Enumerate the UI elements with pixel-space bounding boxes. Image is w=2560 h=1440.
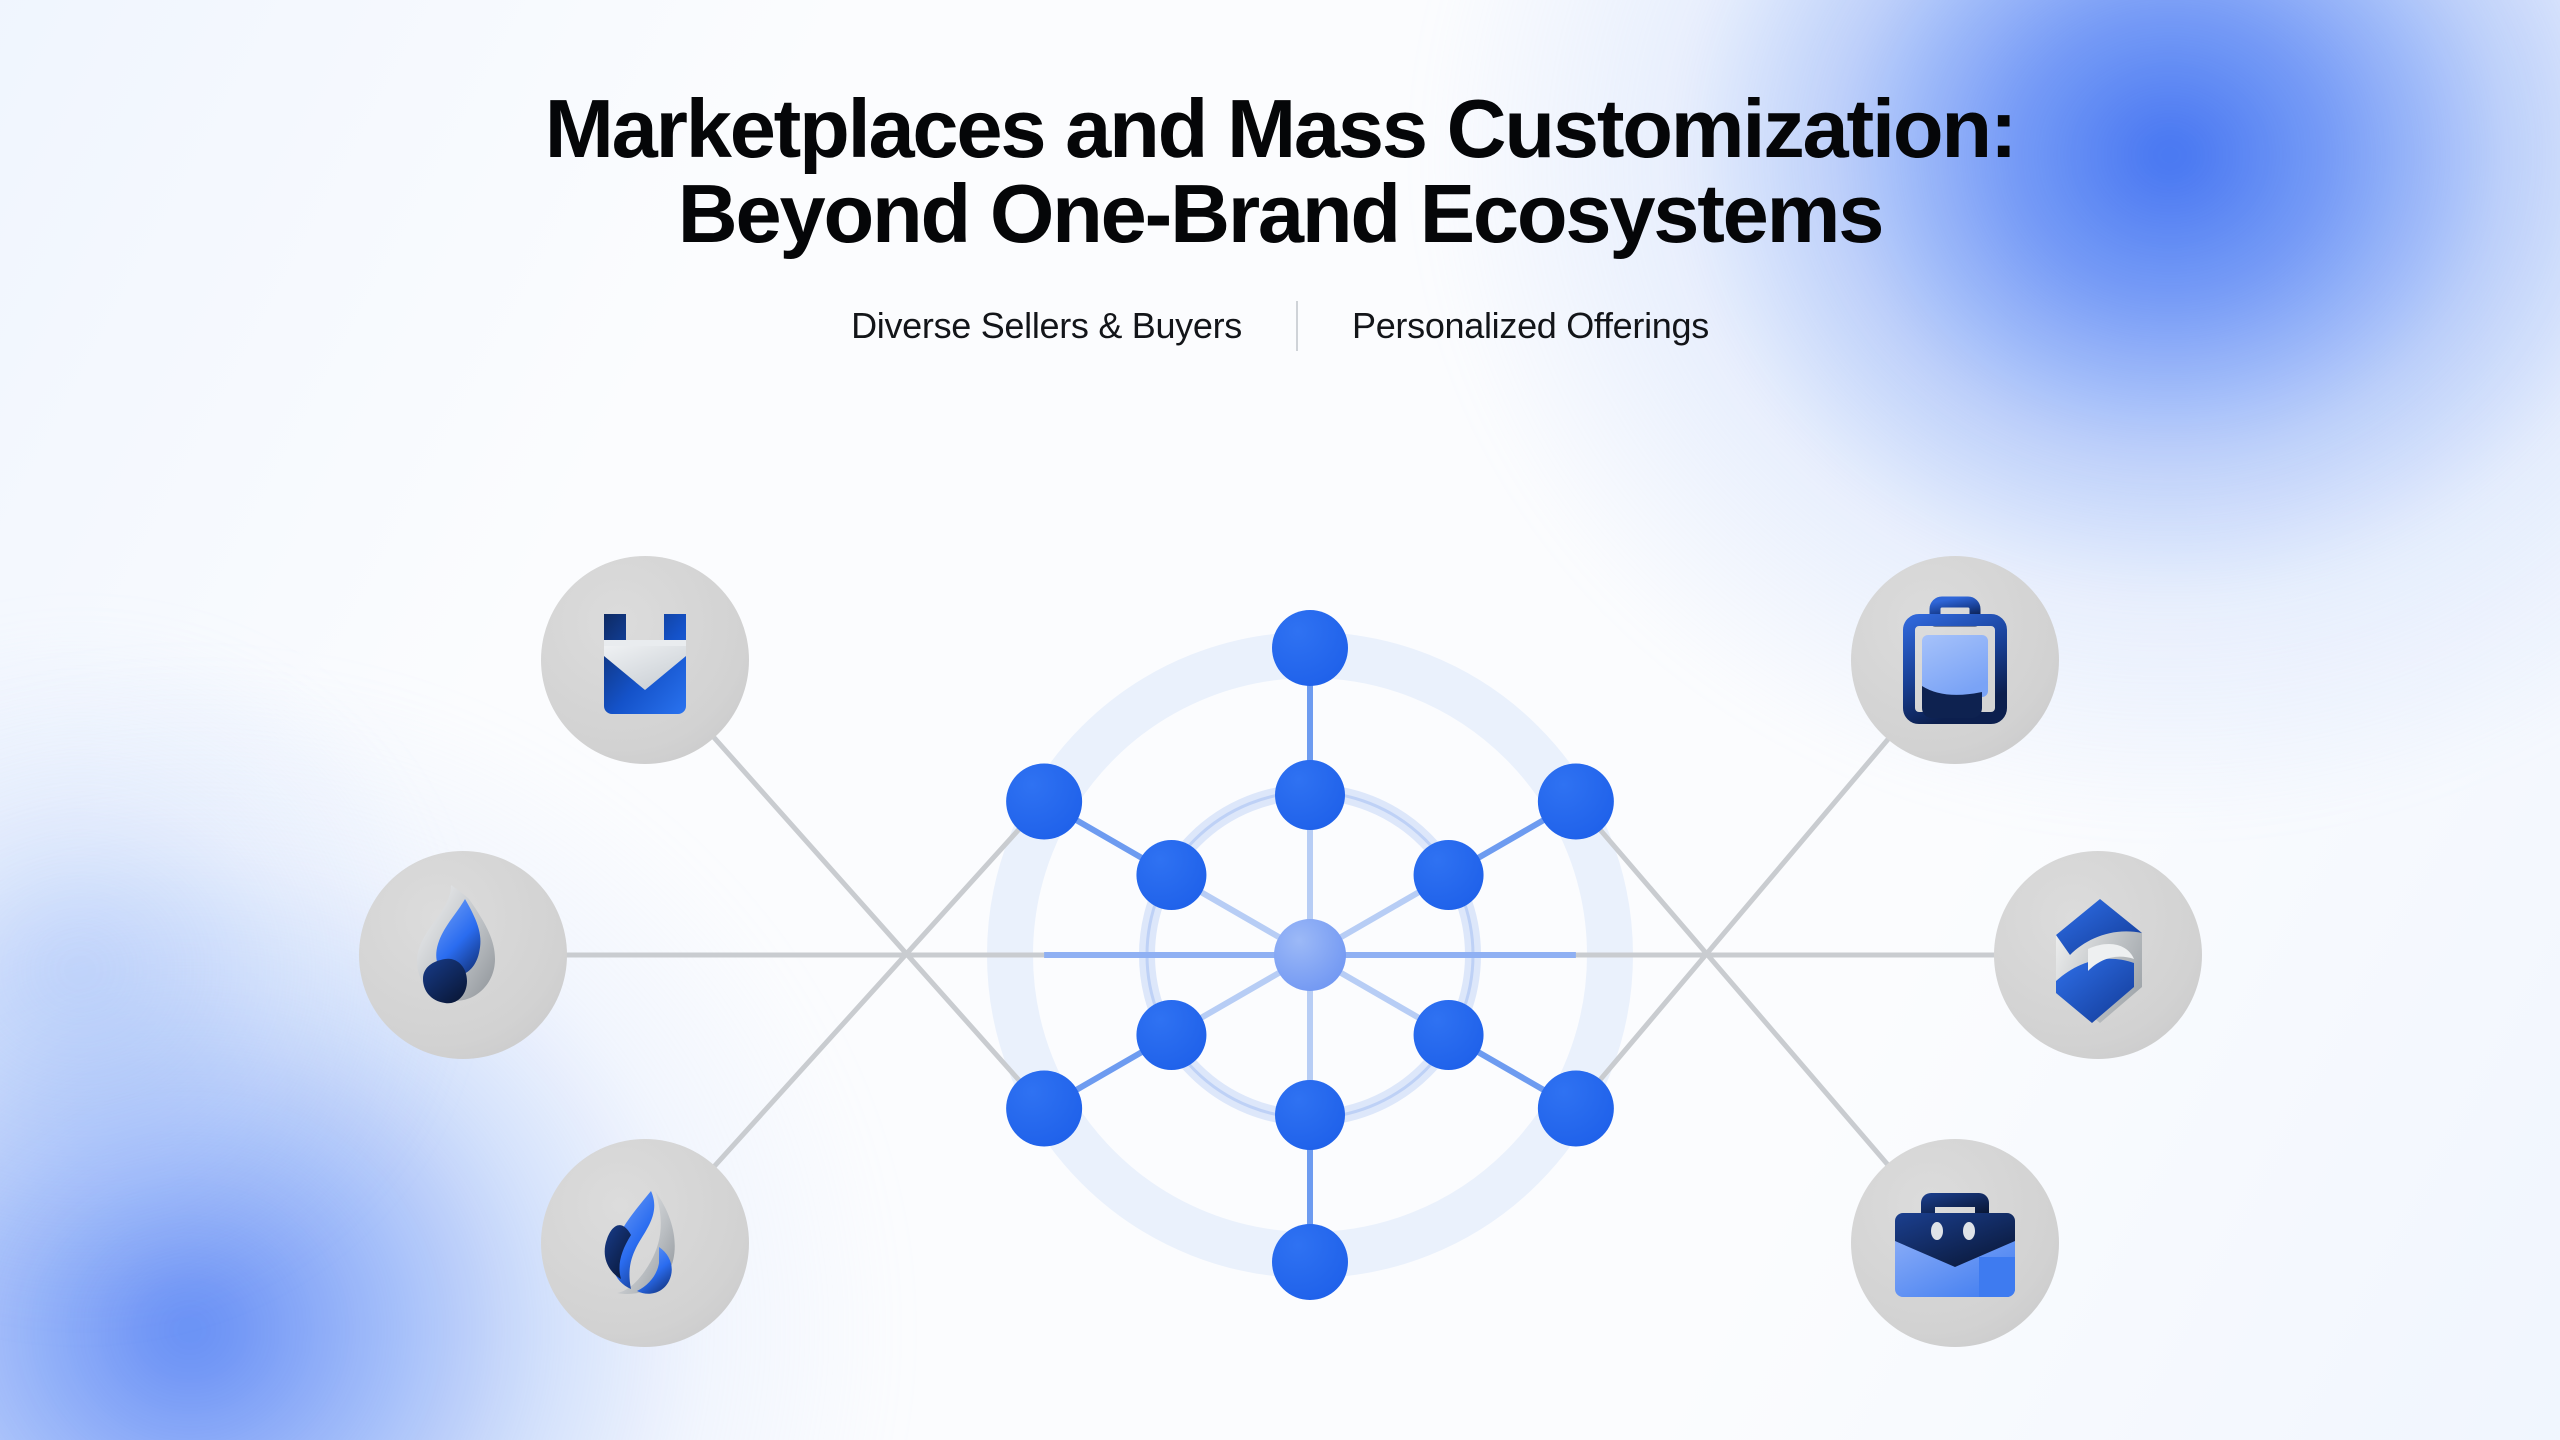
subtitle-right: Personalized Offerings — [1298, 305, 1763, 347]
subtitle-row: Diverse Sellers & Buyers Personalized Of… — [0, 301, 2560, 351]
page-title-line-2: Beyond One-Brand Ecosystems — [0, 171, 2560, 256]
outer-node-6[interactable] — [1006, 764, 1082, 840]
badge-mid-left[interactable] — [359, 851, 567, 1059]
outer-node-2[interactable] — [1538, 764, 1614, 840]
badge-top-right[interactable] — [1851, 556, 2059, 764]
inner-node-1[interactable] — [1275, 760, 1345, 830]
hub-node[interactable] — [1274, 919, 1346, 991]
badge-bottom-right[interactable] — [1851, 1139, 2059, 1347]
page-title-line-1: Marketplaces and Mass Customization: — [0, 86, 2560, 171]
inner-node-3[interactable] — [1414, 1000, 1484, 1070]
badge-mid-right[interactable] — [1994, 851, 2202, 1059]
badge-bottom-left[interactable] — [541, 1139, 749, 1347]
badge-top-left[interactable] — [541, 556, 749, 764]
outer-node-1[interactable] — [1272, 610, 1348, 686]
inner-node-2[interactable] — [1414, 840, 1484, 910]
subtitle-left: Diverse Sellers & Buyers — [797, 305, 1296, 347]
header: Marketplaces and Mass Customization: Bey… — [0, 86, 2560, 351]
inner-node-6[interactable] — [1136, 840, 1206, 910]
inner-node-5[interactable] — [1136, 1000, 1206, 1070]
inner-node-4[interactable] — [1275, 1080, 1345, 1150]
slide-canvas: Marketplaces and Mass Customization: Bey… — [0, 0, 2560, 1440]
outer-node-3[interactable] — [1538, 1071, 1614, 1147]
outer-node-5[interactable] — [1006, 1071, 1082, 1147]
outer-node-4[interactable] — [1272, 1224, 1348, 1300]
badge-circle[interactable] — [541, 1139, 749, 1347]
